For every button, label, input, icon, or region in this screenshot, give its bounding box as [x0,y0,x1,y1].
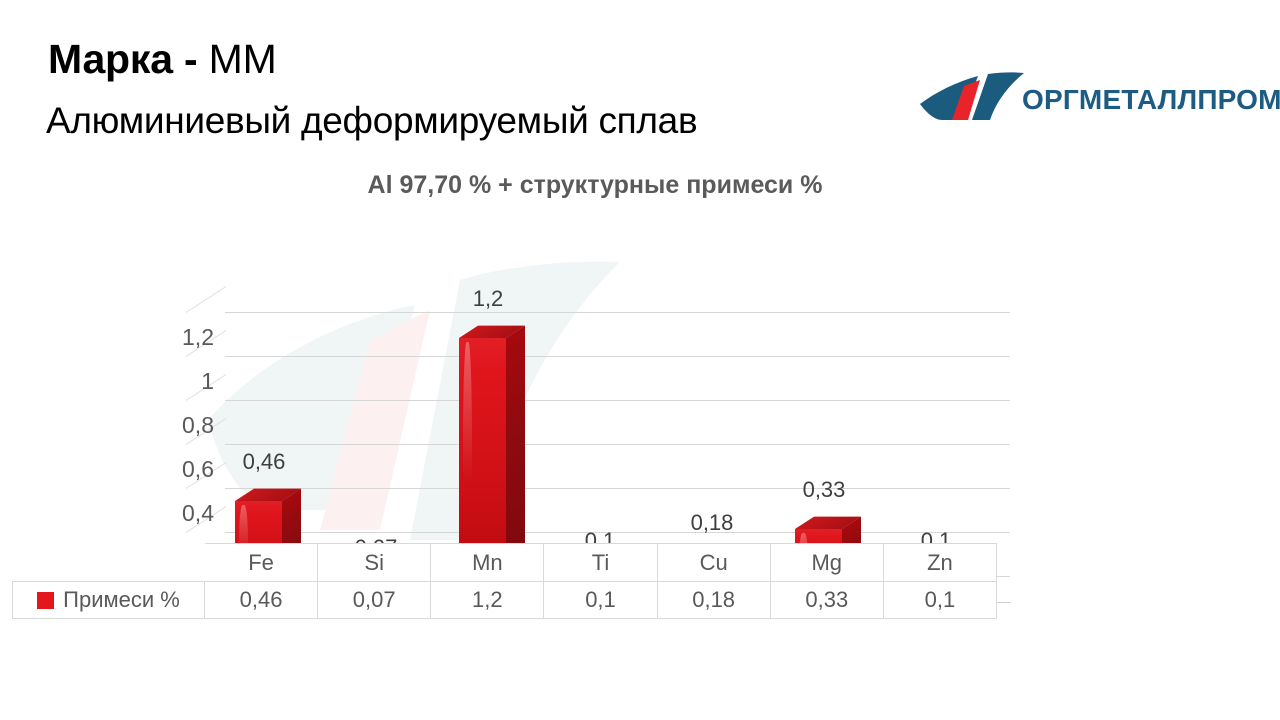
value-cell: 0,1 [884,581,997,619]
value-cells: 0,460,071,20,10,180,330,1 [205,581,997,619]
gridline [225,488,1010,489]
legend-label: Примеси % [63,587,180,613]
bar-data-label: 0,18 [669,510,755,536]
value-cell: 0,07 [318,581,431,619]
gridline [225,356,1010,357]
category-header-cell: Zn [884,543,997,581]
category-header-cell: Fe [205,543,318,581]
page-title: Марка - ММ [48,36,277,83]
value-cell: 0,33 [771,581,884,619]
category-header-cell: Cu [658,543,771,581]
slide-root: Марка - ММ Алюминиевый деформируемый спл… [0,0,1280,720]
gridline [225,312,1010,313]
gridline [225,444,1010,445]
y-tick-label: 0,4 [144,502,214,525]
page-title-bold: Марка - [48,36,197,82]
category-header-cell: Mn [431,543,544,581]
table-corner-cell [12,543,205,581]
table-header-row: FeSiMnTiCuMgZn [12,543,997,581]
y-tick-label: 0,6 [144,458,214,481]
category-header-cells: FeSiMnTiCuMgZn [205,543,997,581]
company-logo: ОРГМЕТАЛЛПРОМ [918,70,1248,128]
category-header-cell: Ti [544,543,657,581]
y-tick-label: 1,2 [144,326,214,349]
y-tick-label: 1 [144,370,214,393]
chart-title: Al 97,70 % + структурные примеси % [0,171,1190,200]
bar-data-label: 0,46 [221,449,307,475]
category-header-cell: Mg [771,543,884,581]
legend-color-swatch [37,592,54,609]
value-cell: 0,1 [544,581,657,619]
page-subtitle: Алюминиевый деформируемый сплав [46,100,697,142]
bar-data-label: 1,2 [445,286,531,312]
category-header-cell: Si [318,543,431,581]
logo-wordmark: ОРГМЕТАЛЛПРОМ [1022,84,1280,116]
page-title-grade: ММ [197,36,276,82]
y-tick-label: 0,8 [144,414,214,437]
value-cell: 0,46 [205,581,318,619]
chart-data-table: FeSiMnTiCuMgZn Примеси % 0,460,071,20,10… [12,543,997,619]
bar-data-label: 0,33 [781,477,867,503]
gridline [225,400,1010,401]
value-cell: 1,2 [431,581,544,619]
logo-mark-icon [918,70,1028,128]
table-value-row: Примеси % 0,460,071,20,10,180,330,1 [12,581,997,619]
value-cell: 0,18 [658,581,771,619]
legend-entry[interactable]: Примеси % [12,581,205,619]
